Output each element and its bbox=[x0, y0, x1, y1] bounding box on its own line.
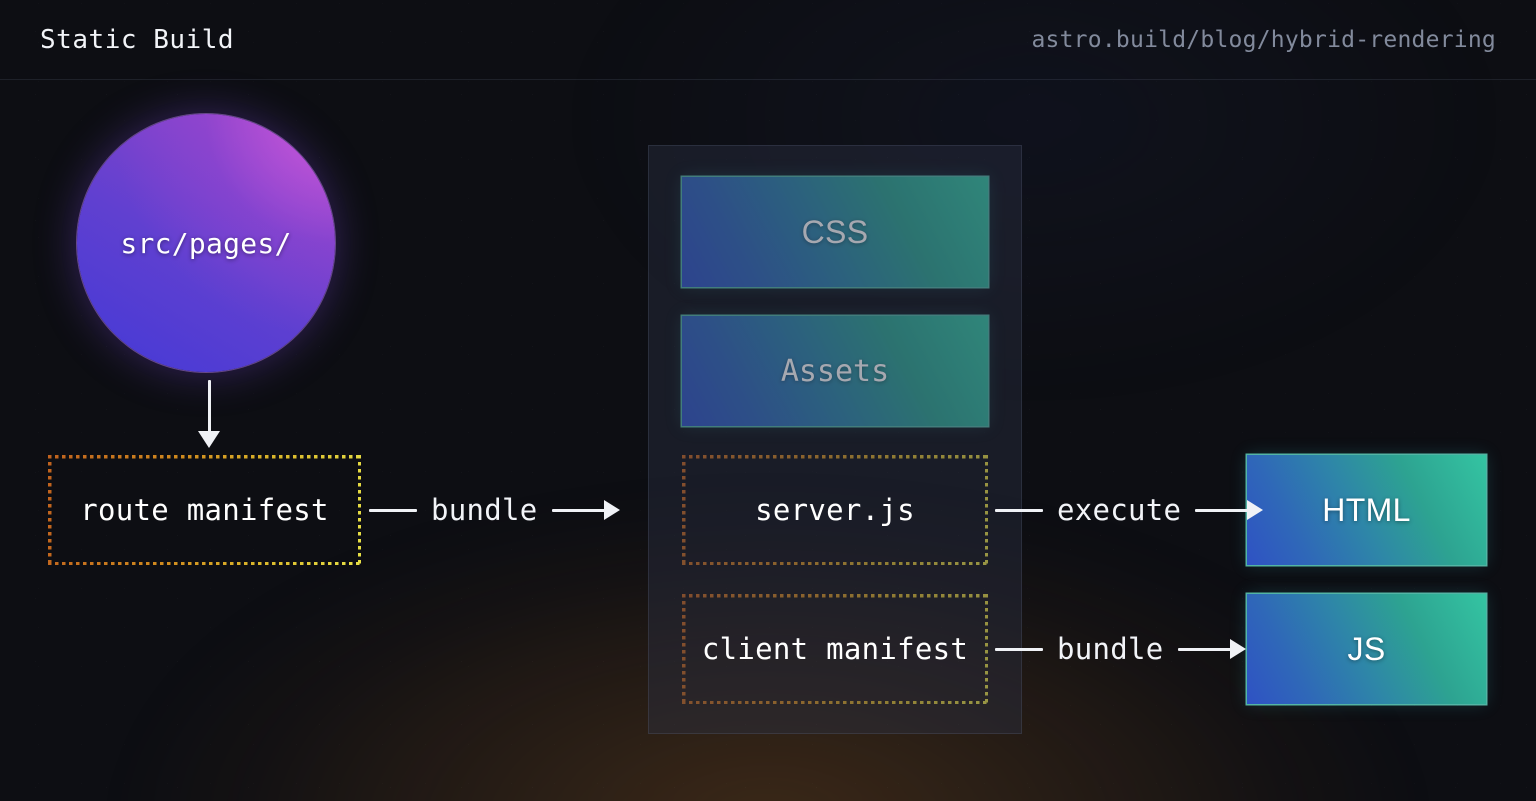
edge-line-right bbox=[1195, 509, 1249, 512]
node-client-manifest-label: client manifest bbox=[702, 632, 968, 666]
edge-label-bundle-1: bundle bbox=[417, 493, 552, 527]
header-bar: Static Build astro.build/blog/hybrid-ren… bbox=[0, 0, 1536, 80]
edge-route-manifest-to-server: bundle bbox=[369, 493, 620, 527]
arrow-head-right-icon bbox=[1247, 500, 1263, 520]
edge-label-execute: execute bbox=[1043, 493, 1195, 527]
diagram-body: src/pages/ route manifest bundle CSS Ass… bbox=[0, 0, 1536, 801]
edge-client-manifest-to-js: bundle bbox=[995, 632, 1246, 666]
edge-line-left bbox=[995, 509, 1043, 512]
node-html[interactable]: HTML bbox=[1247, 455, 1486, 565]
node-route-manifest-label: route manifest bbox=[80, 493, 329, 527]
source-url: astro.build/blog/hybrid-rendering bbox=[1031, 27, 1496, 53]
edge-server-to-html: execute bbox=[995, 493, 1263, 527]
edge-line-right bbox=[1178, 648, 1232, 651]
node-route-manifest[interactable]: route manifest bbox=[48, 455, 361, 565]
diagram-canvas: Static Build astro.build/blog/hybrid-ren… bbox=[0, 0, 1536, 801]
arrow-head-right-icon bbox=[1230, 639, 1246, 659]
arrow-stem bbox=[208, 380, 211, 432]
node-src-pages-label: src/pages/ bbox=[120, 227, 291, 260]
node-server-js-label: server.js bbox=[755, 493, 915, 527]
edge-line-right bbox=[552, 509, 606, 512]
edge-line-left bbox=[995, 648, 1043, 651]
arrow-head-down-icon bbox=[198, 431, 220, 448]
page-title: Static Build bbox=[40, 25, 234, 55]
node-js-label: JS bbox=[1348, 631, 1386, 668]
edge-label-bundle-2: bundle bbox=[1043, 632, 1178, 666]
edge-line-left bbox=[369, 509, 417, 512]
node-html-label: HTML bbox=[1322, 492, 1410, 529]
node-src-pages[interactable]: src/pages/ bbox=[77, 114, 335, 372]
arrow-src-to-route-manifest bbox=[198, 380, 220, 448]
node-js[interactable]: JS bbox=[1247, 594, 1486, 704]
arrow-head-right-icon bbox=[604, 500, 620, 520]
